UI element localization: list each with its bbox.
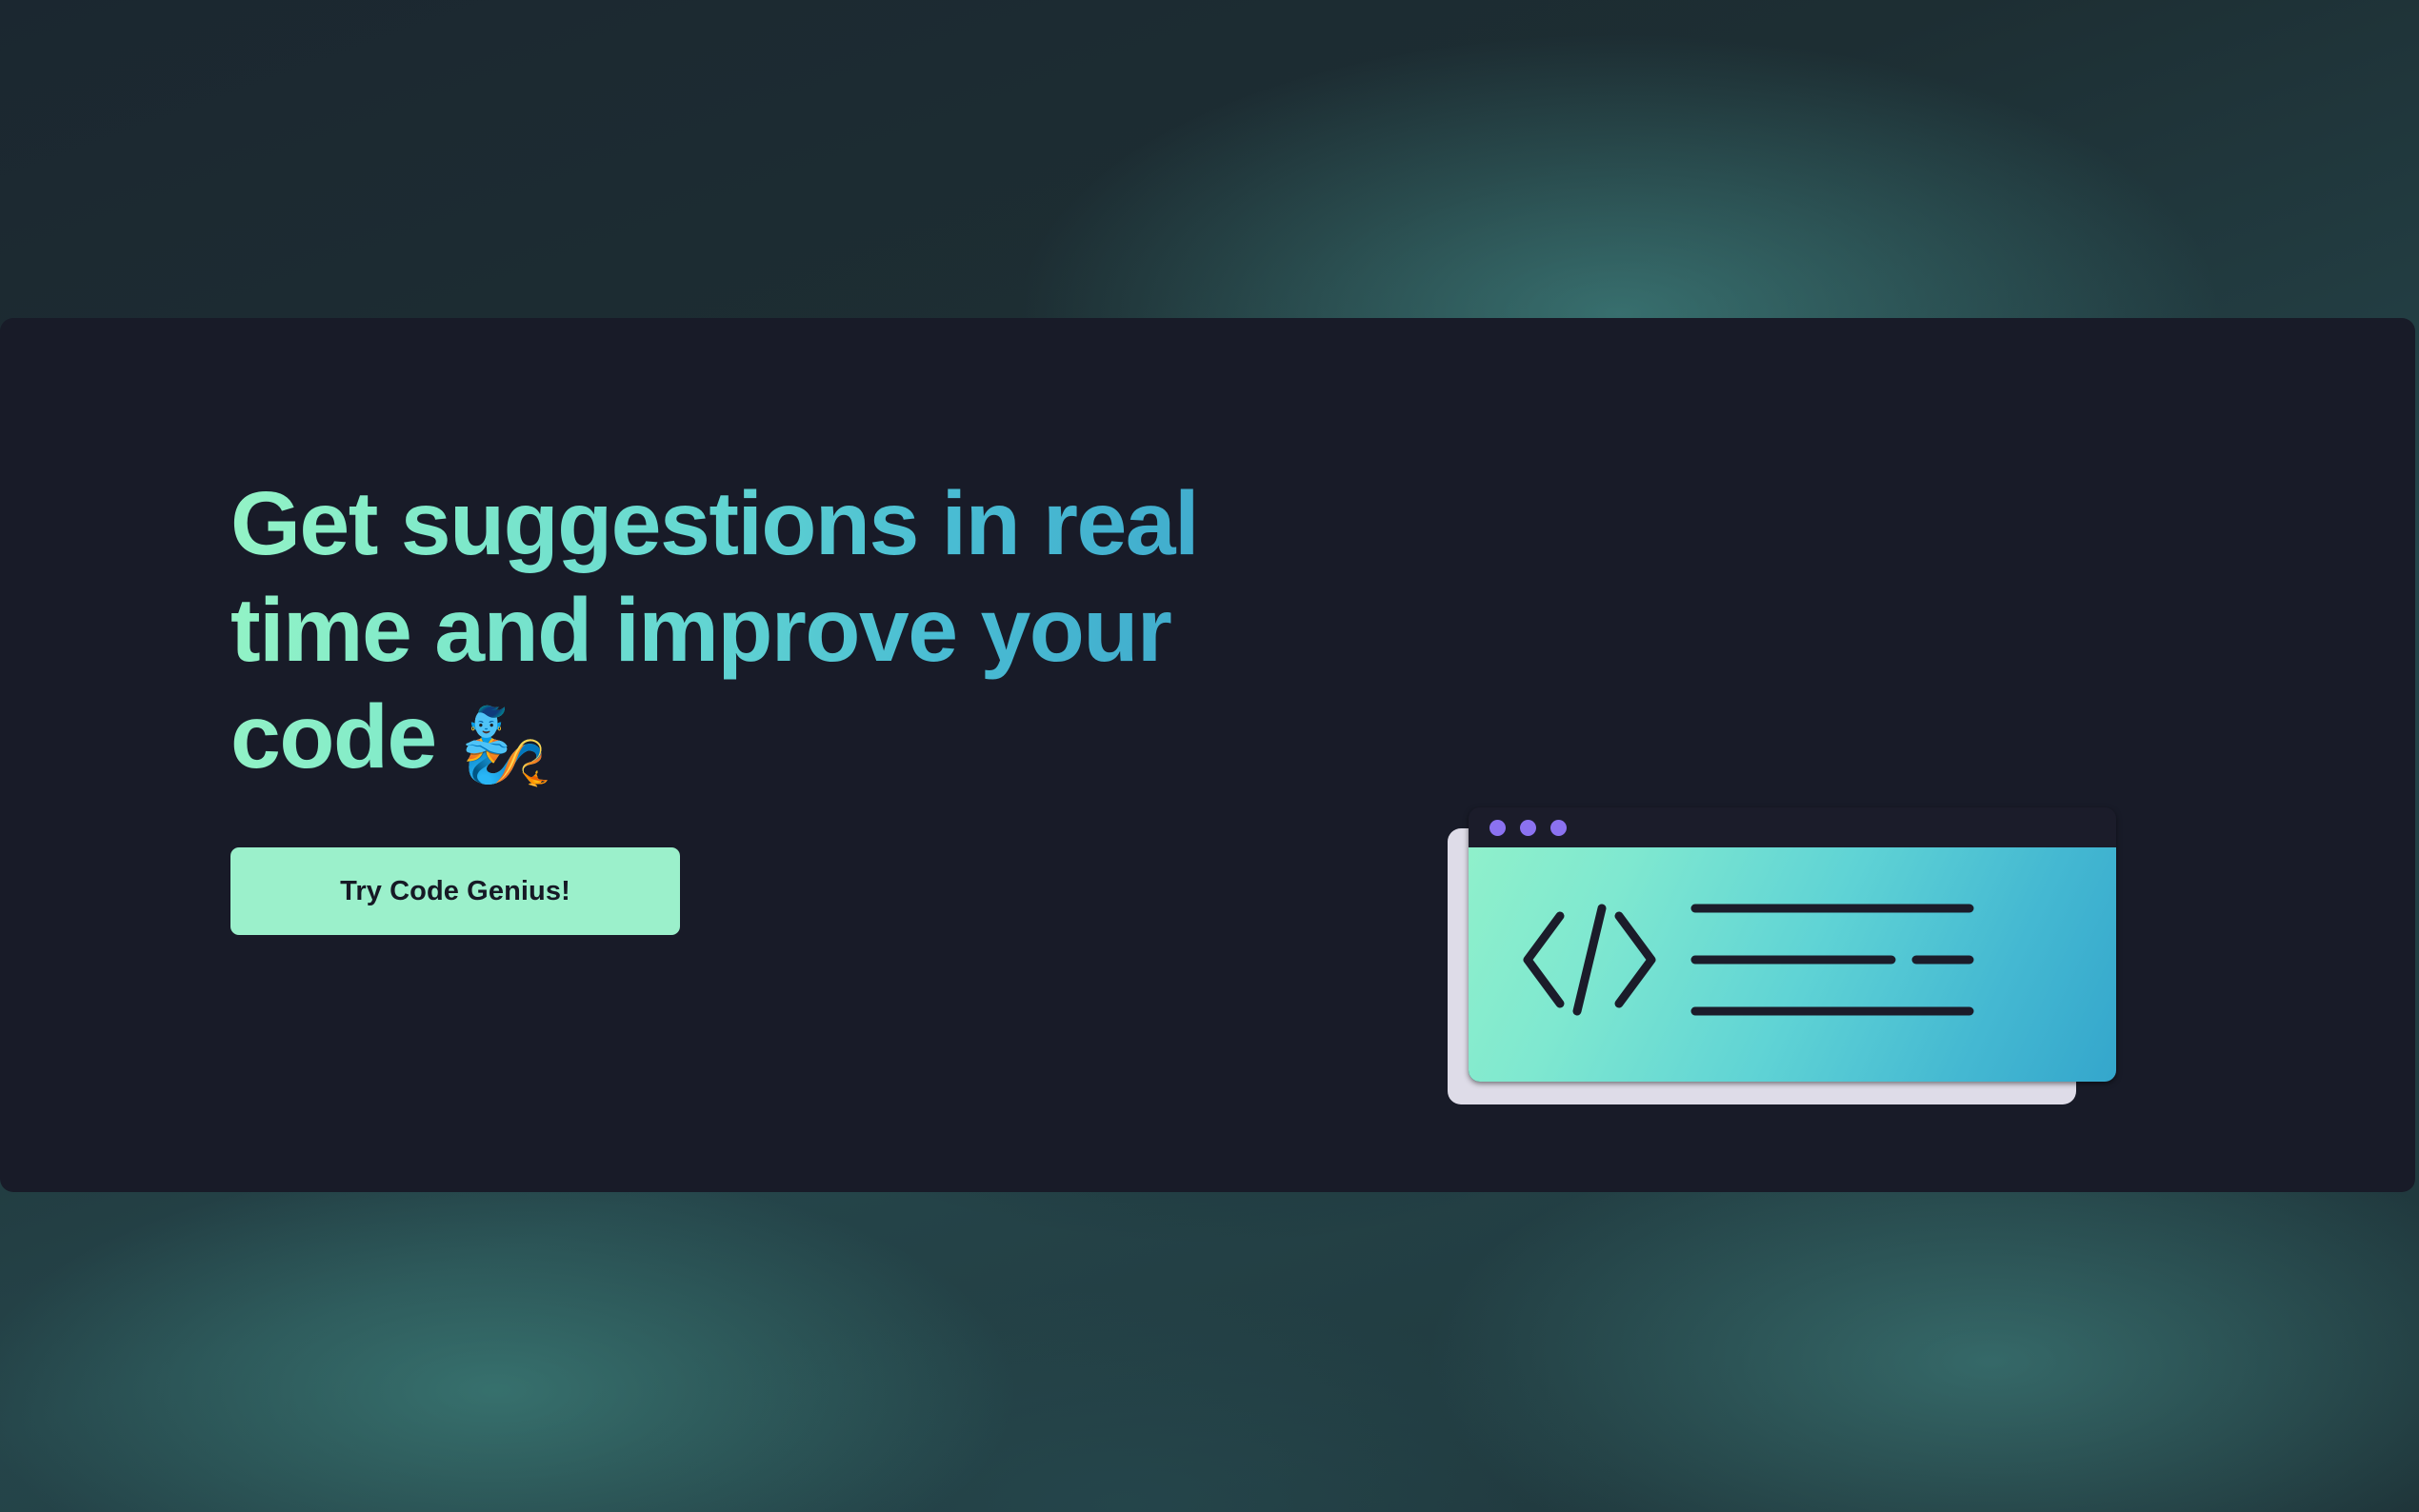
purple-dot-icon-1 (1489, 820, 1506, 836)
page-background: Get suggestions in real time and improve… (0, 0, 2419, 1512)
code-brackets-icon (1518, 899, 1661, 1021)
purple-dot-icon-2 (1520, 820, 1536, 836)
window-titlebar (1469, 807, 2116, 847)
text-lines-group (1689, 901, 1975, 1019)
window-body (1469, 847, 2116, 1082)
page-title: Get suggestions in real time and improve… (230, 470, 1240, 790)
purple-dot-icon-3 (1550, 820, 1567, 836)
try-code-genius-button[interactable]: Try Code Genius! (230, 847, 680, 935)
genie-emoji-icon: 🧞 (460, 704, 551, 787)
hero-card: Get suggestions in real time and improve… (0, 318, 2415, 1192)
hero-text-column: Get suggestions in real time and improve… (230, 470, 1307, 935)
headline-text: Get suggestions in real time and improve… (230, 473, 1198, 787)
code-editor-illustration: AI (1448, 794, 1981, 1108)
window-front-layer (1469, 807, 2116, 1082)
